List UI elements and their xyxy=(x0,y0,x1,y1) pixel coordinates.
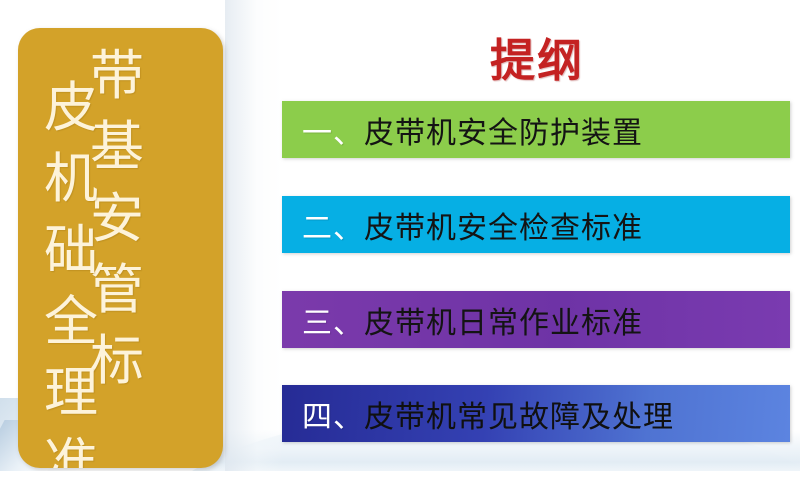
outline-item-2[interactable]: 二、皮带机安全检查标准 xyxy=(282,196,790,253)
outline-item-2-label: 皮带机安全检查标准 xyxy=(364,211,643,246)
outline-item-3-text: 三、皮带机日常作业标准 xyxy=(302,298,643,342)
vertical-title-column-left: 皮 机 础 全 理 准 xyxy=(32,72,110,468)
outline-item-2-text: 二、皮带机安全检查标准 xyxy=(302,203,643,247)
outline-item-1[interactable]: 一、皮带机安全防护装置 xyxy=(282,101,790,158)
outline-item-1-label: 皮带机安全防护装置 xyxy=(364,116,643,151)
page-title: 提纲 xyxy=(283,24,791,89)
outline-item-1-text: 一、皮带机安全防护装置 xyxy=(302,108,643,152)
background-shade-decoration xyxy=(225,0,283,471)
outline-item-4-label: 皮带机常见故障及处理 xyxy=(364,400,674,435)
vertical-title-panel: 带 基 安 管 标 皮 机 础 全 理 准 xyxy=(18,28,223,468)
slide-canvas: 带 基 安 管 标 皮 机 础 全 理 准 提纲 一、皮带机安全防护装置 二、皮… xyxy=(0,0,800,471)
outline-item-4[interactable]: 四、皮带机常见故障及处理 xyxy=(282,385,790,442)
outline-item-2-number: 二、 xyxy=(302,211,364,246)
outline-item-3-label: 皮带机日常作业标准 xyxy=(364,306,643,341)
outline-item-4-number: 四、 xyxy=(302,400,364,435)
outline-item-1-number: 一、 xyxy=(302,116,364,151)
outline-item-3[interactable]: 三、皮带机日常作业标准 xyxy=(282,291,790,348)
outline-item-4-text: 四、皮带机常见故障及处理 xyxy=(302,392,674,436)
page-bottom-margin xyxy=(0,471,800,500)
outline-item-3-number: 三、 xyxy=(302,306,364,341)
